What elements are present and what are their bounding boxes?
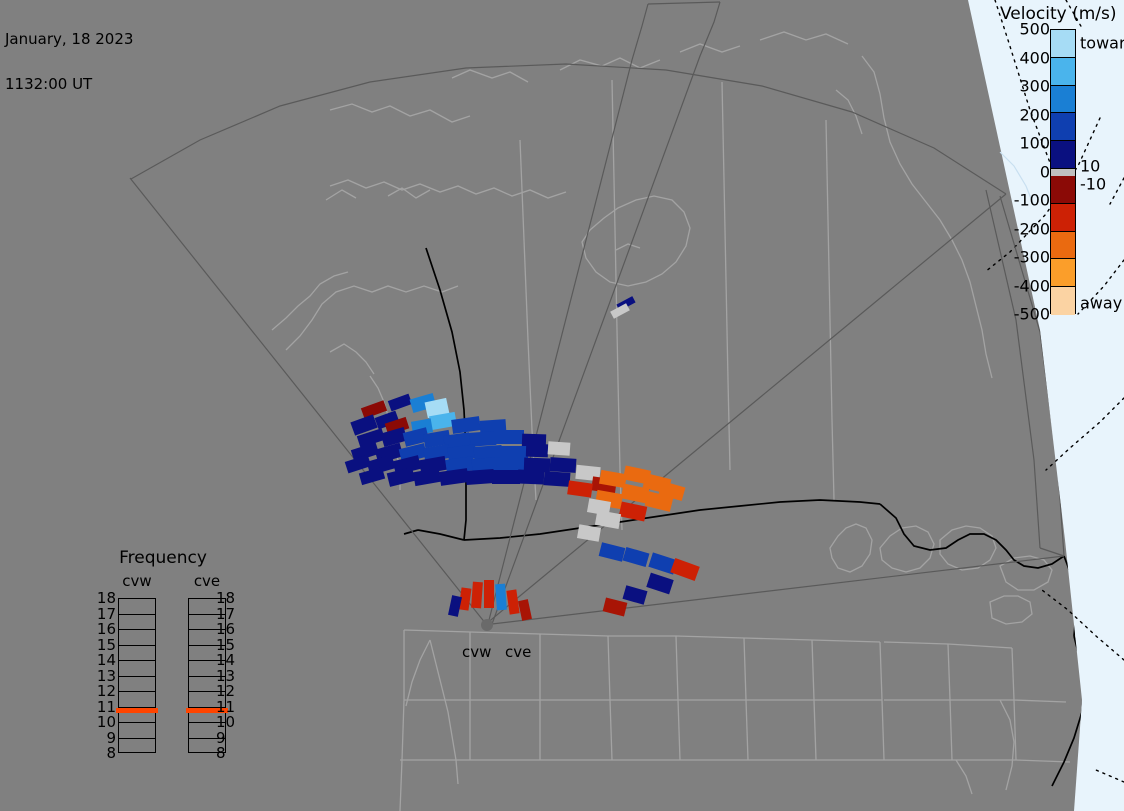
velocity-band <box>1051 259 1075 287</box>
frequency-row <box>119 646 155 662</box>
velocity-tick: -200 <box>1014 219 1050 238</box>
frequency-row <box>119 661 155 677</box>
velocity-gate[interactable] <box>492 470 520 484</box>
velocity-gate[interactable] <box>495 584 507 611</box>
velocity-band <box>1051 58 1075 86</box>
site-label-cvw: cvw <box>462 643 491 661</box>
velocity-band <box>1051 169 1075 176</box>
site-label-cve: cve <box>505 643 531 661</box>
velocity-tick: -400 <box>1014 276 1050 295</box>
frequency-row <box>119 599 155 615</box>
velocity-tick: 200 <box>1019 105 1050 124</box>
timestamp-date: January, 18 2023 <box>5 32 133 47</box>
velocity-legend[interactable]: Velocity (m/s) 5004003002001000-100-200-… <box>998 2 1124 342</box>
velocity-gate[interactable] <box>526 444 548 458</box>
velocity-band <box>1051 141 1075 169</box>
frequency-column-cvw[interactable] <box>118 598 156 753</box>
velocity-tick: -300 <box>1014 248 1050 267</box>
velocity-band <box>1051 204 1075 232</box>
velocity-tick: 300 <box>1019 77 1050 96</box>
velocity-gate[interactable] <box>466 469 495 485</box>
velocity-gate[interactable] <box>484 580 494 608</box>
frequency-row <box>119 723 155 739</box>
frequency-tick: 8 <box>216 744 236 762</box>
frequency-row <box>119 739 155 755</box>
frequency-row <box>119 677 155 693</box>
velocity-gate[interactable] <box>550 457 577 473</box>
velocity-gate[interactable] <box>544 471 571 487</box>
velocity-gate[interactable] <box>500 446 528 460</box>
velocity-colorbar[interactable] <box>1050 29 1076 314</box>
frequency-row <box>119 692 155 708</box>
velocity-tick: -500 <box>1014 305 1050 324</box>
velocity-tick: -100 <box>1014 191 1050 210</box>
frequency-legend-title: Frequency <box>88 548 238 568</box>
velocity-band <box>1051 86 1075 114</box>
velocity-side-label: away <box>1080 293 1122 312</box>
velocity-band <box>1051 113 1075 141</box>
velocity-tick: 100 <box>1019 134 1050 153</box>
radar-site-marker <box>481 619 493 631</box>
velocity-band <box>1051 176 1075 204</box>
frequency-row <box>119 630 155 646</box>
velocity-gate[interactable] <box>471 582 483 609</box>
frequency-row <box>119 615 155 631</box>
velocity-gate[interactable] <box>548 441 571 456</box>
velocity-legend-title: Velocity (m/s) <box>1000 4 1117 24</box>
frequency-column-label-cvw: cvw <box>115 572 159 590</box>
velocity-band <box>1051 287 1075 315</box>
velocity-side-label: 10 <box>1080 156 1100 175</box>
frequency-legend[interactable]: Frequency cvw18171615141312111098cve1817… <box>88 548 238 788</box>
timestamp-time: 1132:00 UT <box>5 77 133 92</box>
frequency-column-label-cve: cve <box>185 572 229 590</box>
velocity-gate[interactable] <box>494 430 524 444</box>
velocity-band <box>1051 232 1075 260</box>
velocity-gate[interactable] <box>518 470 544 485</box>
velocity-side-label: toward <box>1080 34 1124 53</box>
velocity-tick: 400 <box>1019 48 1050 67</box>
timestamp: January, 18 2023 1132:00 UT <box>5 2 133 122</box>
frequency-marker-cvw <box>116 708 158 713</box>
velocity-band <box>1051 30 1075 58</box>
screenshot-root: January, 18 2023 1132:00 UT Velocity (m/… <box>0 0 1124 811</box>
velocity-tick: 0 <box>1040 162 1050 181</box>
velocity-side-label: -10 <box>1080 175 1106 194</box>
frequency-tick: 8 <box>96 744 116 762</box>
velocity-tick: 500 <box>1019 20 1050 39</box>
